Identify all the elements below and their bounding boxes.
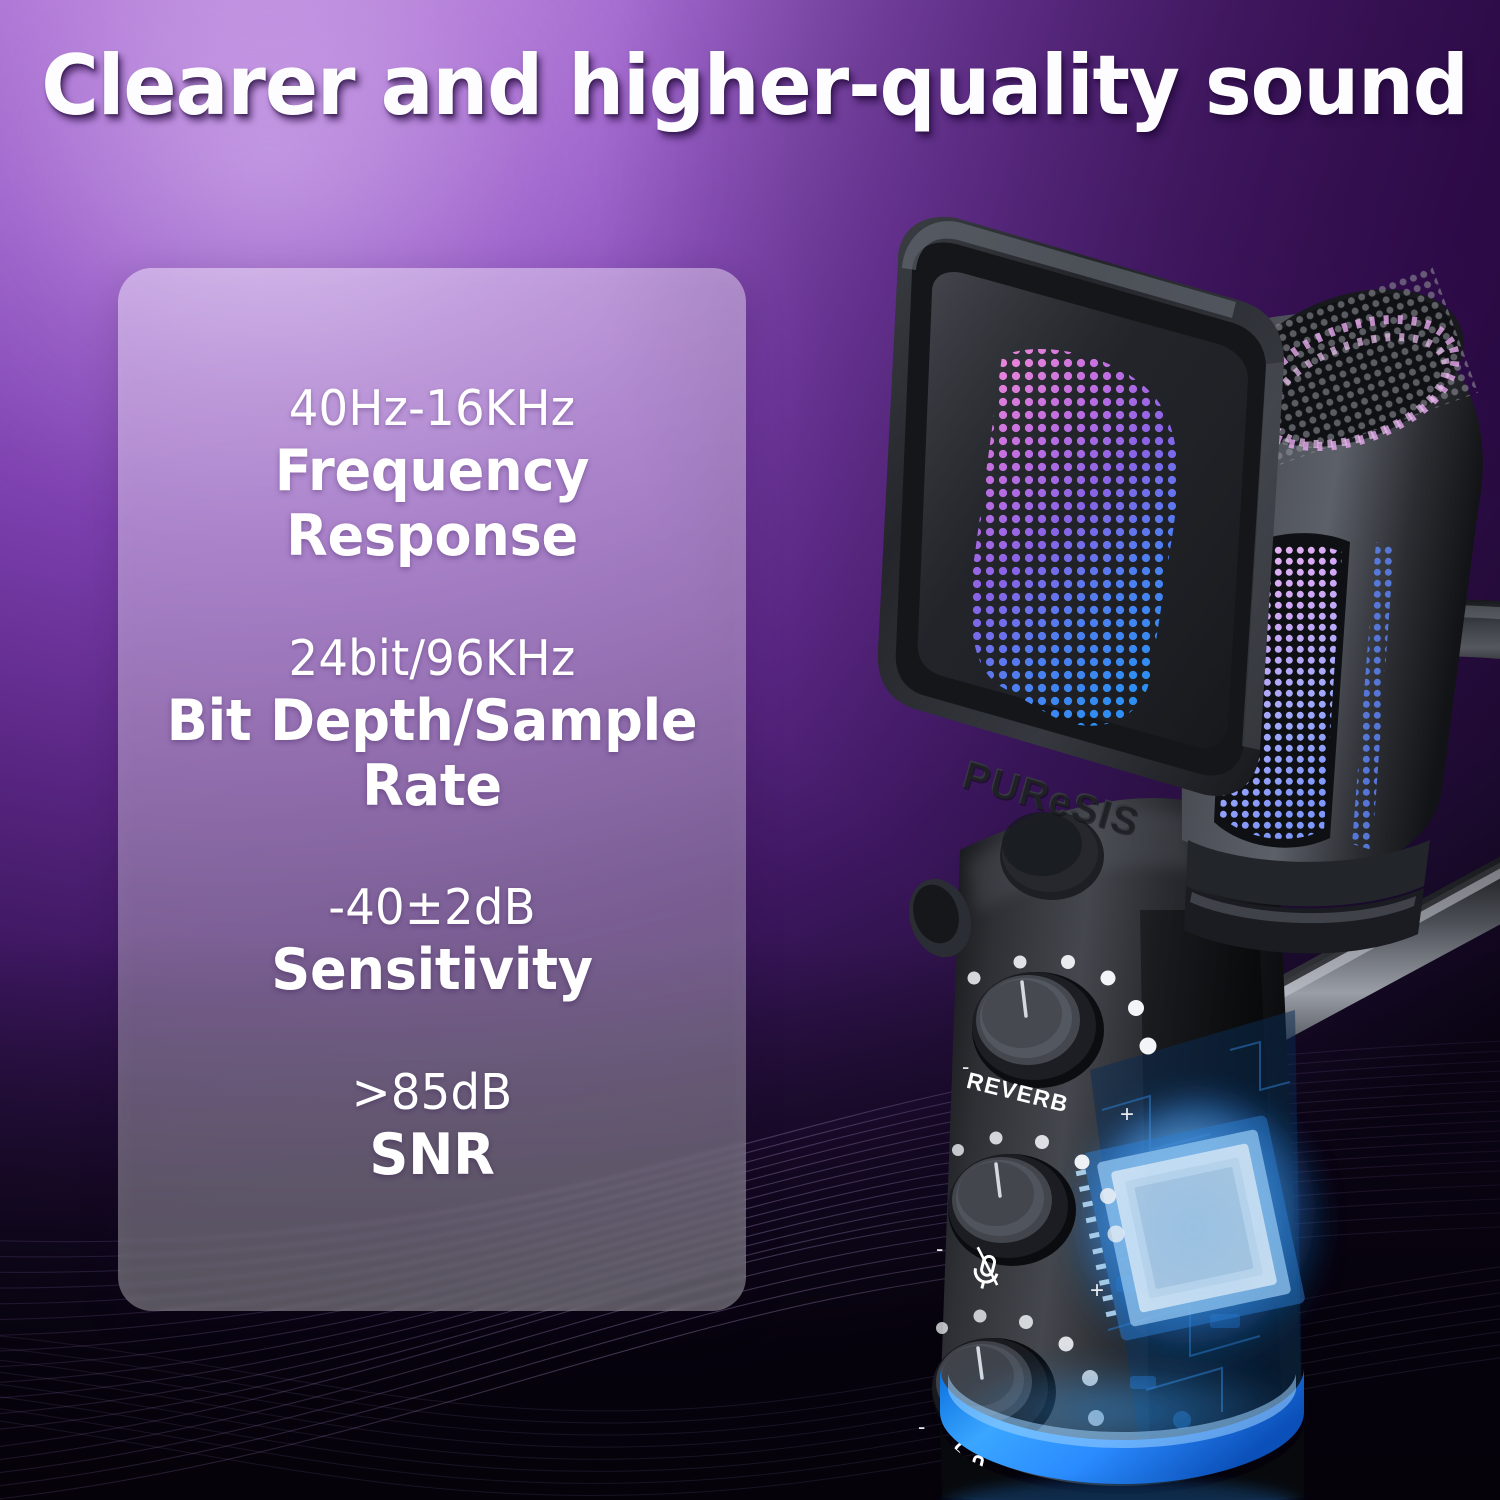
headphone-minus-label: -	[918, 1414, 925, 1439]
reverb-minus-label: -	[962, 1054, 969, 1079]
spec-panel: 40Hz-16KHz Frequency Response 24bit/96KH…	[118, 268, 746, 1311]
spec-label: Sensitivity	[166, 938, 698, 1003]
spec-item-sensitivity: -40±2dB Sensitivity	[152, 850, 712, 1035]
spec-item-frequency-response: 40Hz-16KHz Frequency Response	[152, 351, 712, 601]
spec-label: Frequency Response	[166, 439, 698, 569]
rgb-led-panel	[971, 349, 1177, 726]
spec-label: SNR	[166, 1123, 698, 1188]
page-title: Clearer and higher-quality sound	[41, 44, 1459, 129]
spec-value: 24bit/96KHz	[166, 631, 698, 687]
spec-label: Bit Depth/Sample Rate	[166, 689, 698, 819]
spec-item-bit-depth-sample-rate: 24bit/96KHz Bit Depth/Sample Rate	[152, 601, 712, 851]
spec-item-snr: >85dB SNR	[152, 1035, 712, 1220]
microphone-product-image: REVERB - +	[790, 150, 1500, 1500]
reverb-plus-label: +	[1120, 1101, 1134, 1128]
spec-value: 40Hz-16KHz	[166, 381, 698, 437]
mic-front-frame: PUReSIS PUReSIS	[878, 217, 1284, 847]
spec-value: >85dB	[166, 1065, 698, 1121]
spec-value: -40±2dB	[166, 880, 698, 936]
mic-gain-plus-label: +	[1090, 1277, 1104, 1304]
base-rgb-ring	[936, 1358, 1308, 1484]
mic-gain-minus-label: -	[936, 1236, 943, 1261]
product-feature-image: Clearer and higher-quality sound 40Hz-16…	[0, 0, 1500, 1500]
